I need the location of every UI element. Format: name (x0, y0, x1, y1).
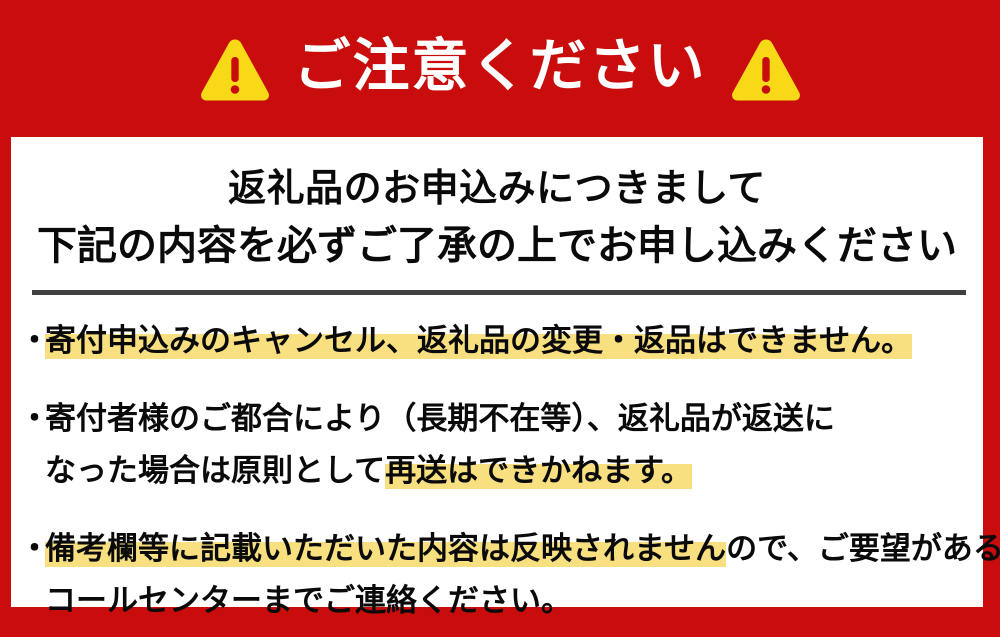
bullet-line: ・寄付者様のご都合により（長期不在等）、返礼品が返送に (19, 393, 983, 445)
bullet-item: ・備考欄等に記載いただいた内容は反映されませんので、ご要望がある際はコールセンタ… (19, 523, 983, 627)
title-block: 返礼品のお申込みにつきまして 下記の内容を必ずご了承の上でお申し込みください (11, 159, 983, 275)
bullet-list: ・寄付申込みのキャンセル、返礼品の変更・返品はできません。・寄付者様のご都合によ… (19, 315, 983, 637)
bullet-text: コールセンターまでご連絡ください。 (45, 583, 572, 619)
bullet-item: ・寄付申込みのキャンセル、返礼品の変更・返品はできません。 (19, 315, 983, 367)
notice-card: ご注意ください 返礼品のお申込みにつきまして 下記の内容を必ずご了承の上でお申し… (0, 0, 1000, 621)
highlighted-text: 寄付申込みのキャンセル、返礼品の変更・返品はできません。 (45, 323, 912, 359)
bullet-spacer (19, 377, 983, 393)
title-line-2: 下記の内容を必ずご了承の上でお申し込みください (11, 217, 983, 275)
bullet-marker: ・ (19, 523, 45, 575)
bullet-marker: ・ (19, 393, 45, 445)
title-line-1: 返礼品のお申込みにつきまして (11, 159, 983, 217)
banner-header: ご注意ください (0, 0, 1000, 137)
bullet-spacer (19, 507, 983, 523)
bullet-item: ・寄付者様のご都合により（長期不在等）、返礼品が返送になった場合は原則として再送… (19, 393, 983, 497)
bullet-marker: ・ (19, 315, 45, 367)
bullet-line: コールセンターまでご連絡ください。 (19, 575, 983, 627)
highlighted-text: 備考欄等に記載いただいた内容は反映されません (45, 531, 726, 567)
section-divider (32, 290, 966, 295)
warning-triangle-icon (729, 36, 803, 102)
warning-triangle-icon (198, 36, 272, 102)
banner-title: ご注意ください (294, 38, 707, 95)
bullet-text: 寄付者様のご都合により（長期不在等）、返礼品が返送に (45, 401, 835, 437)
bullet-text: なった場合は原則として (45, 453, 385, 489)
bullet-line: ・備考欄等に記載いただいた内容は反映されませんので、ご要望がある際は (19, 523, 983, 575)
highlighted-text: 再送はできかねます。 (385, 453, 692, 489)
bullet-text: ので、ご要望がある際は (726, 531, 1000, 567)
bullet-line: なった場合は原則として再送はできかねます。 (19, 445, 983, 497)
notice-panel: 返礼品のお申込みにつきまして 下記の内容を必ずご了承の上でお申し込みください ・… (11, 137, 983, 607)
bullet-line: ・寄付申込みのキャンセル、返礼品の変更・返品はできません。 (19, 315, 983, 367)
